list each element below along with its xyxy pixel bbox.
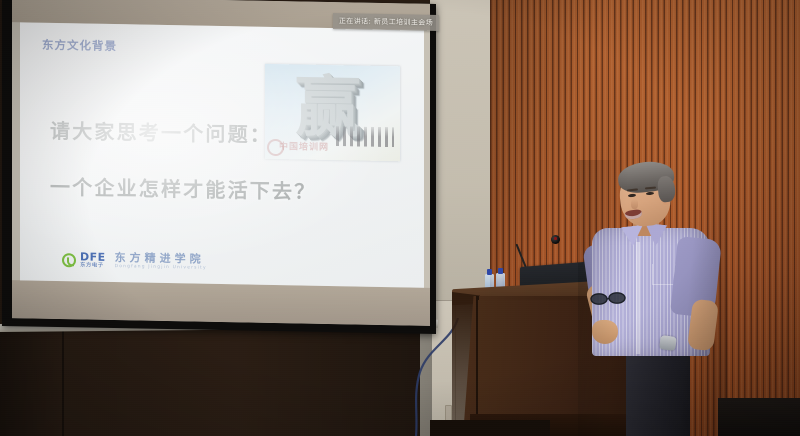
slide-question-line-1: 请大家思考一个问题： [50,115,272,148]
slide-title: 东方文化背景 [42,37,117,54]
now-speaking-banner-text: 正在讲话: 新员工培训主会场 [339,16,433,28]
dark-furniture [718,398,800,436]
shirt-placket [636,242,640,354]
slide-question-line-2: 一个企业怎样才能活下去？ [50,171,316,205]
wall-plate [445,405,452,421]
wood-wall-left-shading [0,331,432,436]
logo-brand-cn: 东方电子 [80,262,106,269]
speaker-right-forearm [687,299,719,352]
speaker [578,160,728,436]
speaker-nose [631,199,638,209]
speaker-hand [592,320,618,344]
microphone-indicator-light [554,237,557,240]
projection-screen-surface: 东方文化背景 请大家思考一个问题： 一个企业怎样才能活下去？ 赢 中国培训网 D… [12,0,430,326]
eyeglasses-icon [590,290,628,308]
wristwatch [659,335,677,351]
screen-band-bottom [12,280,430,326]
slide-image: 赢 中国培训网 [265,64,400,161]
dfe-leaf-icon [62,253,76,267]
projection-screen-frame: 东方文化背景 请大家思考一个问题： 一个企业怎样才能活下去？ 赢 中国培训网 D… [2,0,436,334]
image-watermark: 中国培训网 [279,139,397,157]
lecture-hall-photo: 东方文化背景 请大家思考一个问题： 一个企业怎样才能活下去？ 赢 中国培训网 D… [0,0,800,436]
wood-panel-seam [62,331,64,436]
projected-slide: 东方文化背景 请大家思考一个问题： 一个企业怎样才能活下去？ 赢 中国培训网 D… [20,22,424,287]
slide-logo: DFE 东方电子 东方精进学院 Dongfang Jingjin Univers… [62,251,207,272]
logo-brand-latin: DFE [80,252,106,262]
now-speaking-banner: 正在讲话: 新员工培训主会场 [333,13,439,31]
logo-institute-pinyin: Dongfang Jingjin University [115,264,207,272]
speaker-trousers [626,350,690,436]
floor-shadow [430,420,550,436]
